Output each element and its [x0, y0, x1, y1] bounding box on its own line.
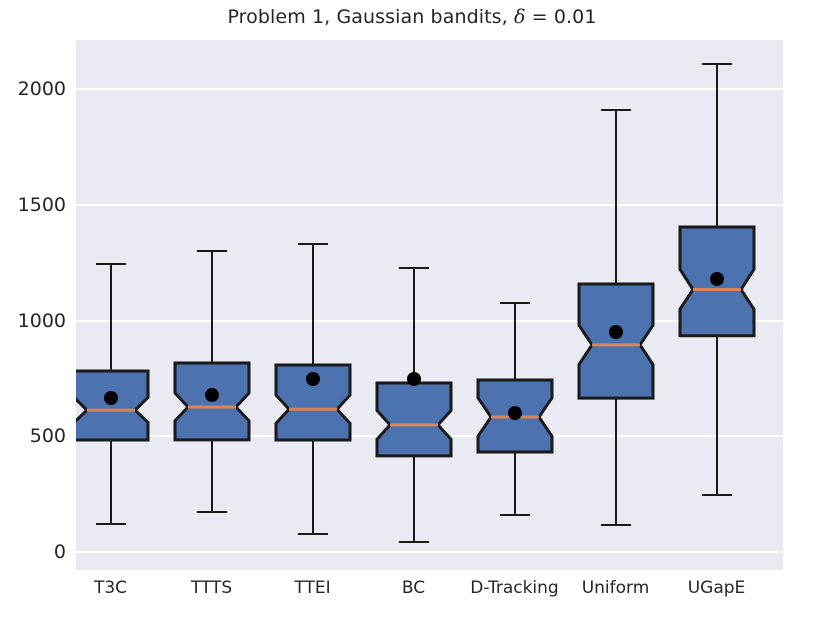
whisker-upper [413, 268, 415, 383]
gridline-y [76, 320, 783, 322]
whisker-lower [716, 336, 718, 496]
whisker-lower [615, 398, 617, 525]
x-tick-label-ugape: UGapE [688, 578, 746, 598]
whisker-lower [514, 452, 516, 515]
whisker-lower [211, 440, 213, 512]
x-tick-label-bc: BC [402, 578, 425, 598]
whisker-upper [211, 251, 213, 363]
plot-area [76, 40, 783, 570]
whisker-lower [312, 440, 314, 534]
cap-upper [298, 243, 328, 245]
chart-title-suffix: = 0.01 [526, 6, 597, 28]
x-tick-label-uniform: Uniform [582, 578, 650, 598]
cap-lower [702, 494, 732, 496]
y-tick-label: 500 [0, 425, 66, 447]
gridline-y [76, 88, 783, 90]
y-tick-label: 2000 [0, 78, 66, 100]
mean-marker [407, 372, 421, 386]
x-tick-label-ttei: TTEI [294, 578, 330, 598]
mean-marker [205, 388, 219, 402]
y-tick-label: 1000 [0, 310, 66, 332]
whisker-lower [110, 440, 112, 524]
whisker-upper [615, 110, 617, 284]
boxplot-figure: Problem 1, Gaussian bandits, δ = 0.01 05… [0, 0, 824, 630]
x-tick-label-t3c: T3C [94, 578, 127, 598]
y-tick-label: 0 [0, 541, 66, 563]
mean-marker [710, 272, 724, 286]
box-uniform [579, 284, 653, 398]
x-tick-label-d-tracking: D-Tracking [470, 578, 558, 598]
whisker-lower [413, 456, 415, 542]
gridline-y [76, 551, 783, 553]
cap-upper [500, 302, 530, 304]
cap-lower [298, 533, 328, 535]
y-tick-label: 1500 [0, 194, 66, 216]
cap-lower [500, 514, 530, 516]
box-bc [377, 383, 451, 456]
mean-marker [306, 372, 320, 386]
delta-symbol: δ [514, 6, 526, 28]
cap-upper [399, 267, 429, 269]
cap-upper [601, 109, 631, 111]
whisker-upper [312, 244, 314, 365]
mean-marker [508, 406, 522, 420]
chart-title: Problem 1, Gaussian bandits, δ = 0.01 [0, 6, 824, 28]
cap-lower [399, 541, 429, 543]
cap-lower [96, 523, 126, 525]
mean-marker [104, 391, 118, 405]
cap-upper [96, 263, 126, 265]
x-tick-label-ttts: TTTS [191, 578, 232, 598]
gridline-y [76, 204, 783, 206]
cap-upper [197, 250, 227, 252]
chart-title-prefix: Problem 1, Gaussian bandits, [227, 6, 514, 28]
mean-marker [609, 325, 623, 339]
cap-lower [197, 511, 227, 513]
whisker-upper [110, 264, 112, 371]
whisker-upper [514, 303, 516, 380]
whisker-upper [716, 64, 718, 227]
cap-lower [601, 524, 631, 526]
box-t3c [76, 371, 148, 440]
cap-upper [702, 63, 732, 65]
